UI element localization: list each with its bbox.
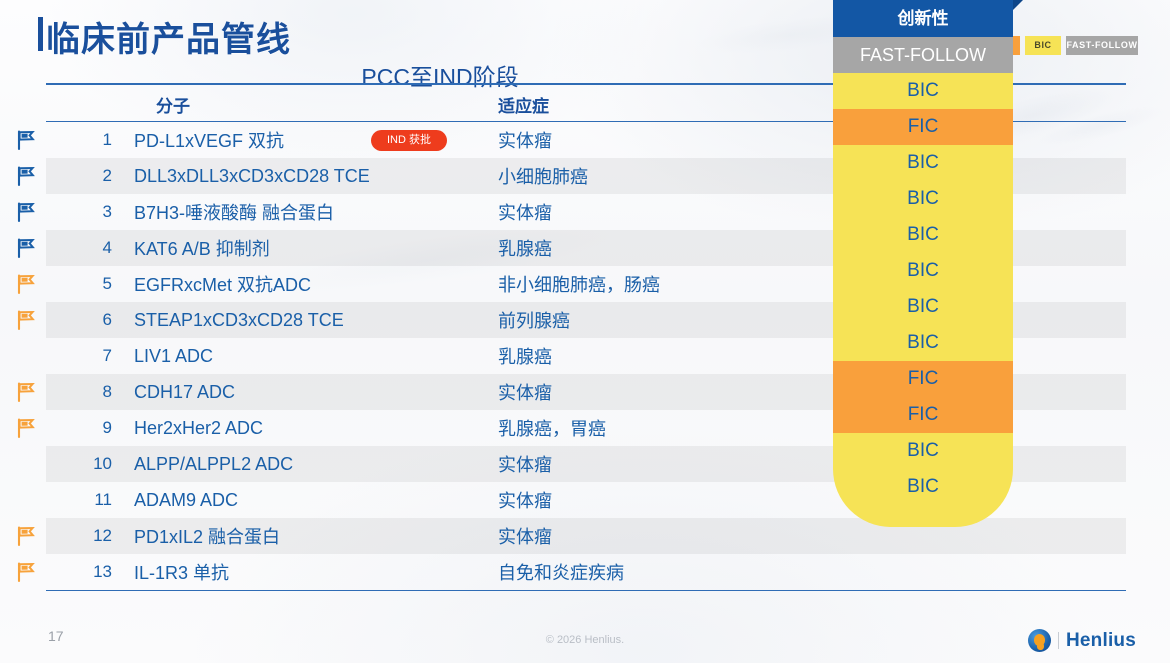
molecule-name: KAT6 A/B 抑制剂	[134, 235, 270, 261]
row-number: 1	[86, 130, 112, 150]
column-header-indication: 适应症	[498, 92, 549, 117]
legend-chip-bic: BIC	[1025, 36, 1061, 55]
indication-text: 实体瘤	[498, 523, 552, 549]
ind-approval-badge: IND 获批	[371, 130, 447, 151]
molecule-name: DLL3xDLL3xCD3xCD28 TCE	[134, 166, 370, 187]
table-bottom-rule	[46, 590, 1126, 591]
indication-text: 自免和炎症疾病	[498, 559, 624, 585]
molecule-name: ADAM9 ADC	[134, 490, 238, 511]
ind-year-flag-icon	[15, 309, 37, 331]
indication-text: 小细胞肺癌	[498, 163, 588, 189]
ind-year-flag-icon	[15, 273, 37, 295]
innovation-cell: BIC	[833, 217, 1013, 253]
innovation-cell: FIC	[833, 109, 1013, 145]
innovation-column: 创新性 FAST-FOLLOWBICFICBICBICBICBICBICBICF…	[833, 0, 1013, 527]
ind-year-flag-icon	[15, 129, 37, 151]
indication-text: 乳腺癌	[498, 343, 552, 369]
row-number: 8	[86, 382, 112, 402]
row-number: 12	[86, 526, 112, 546]
indication-text: 实体瘤	[498, 379, 552, 405]
page-title: 临床前产品管线	[46, 12, 291, 61]
innovation-cell: FIC	[833, 397, 1013, 433]
molecule-name: CDH17 ADC	[134, 382, 235, 403]
row-number: 7	[86, 346, 112, 366]
innovation-cell: BIC	[833, 253, 1013, 289]
molecule-name: B7H3-唾液酸酶 融合蛋白	[134, 199, 334, 225]
ind-year-flag-icon	[15, 165, 37, 187]
ind-year-flag-icon	[15, 237, 37, 259]
innovation-cells: FAST-FOLLOWBICFICBICBICBICBICBICBICFICFI…	[833, 37, 1013, 527]
molecule-name: PD1xIL2 融合蛋白	[134, 523, 280, 549]
molecule-name: STEAP1xCD3xCD28 TCE	[134, 310, 344, 331]
henlius-logo: Henlius	[1028, 629, 1136, 652]
logo-divider	[1058, 632, 1059, 649]
innovation-cell: BIC	[833, 73, 1013, 109]
row-number: 10	[86, 454, 112, 474]
legend-chip-ff: FAST-FOLLOW	[1066, 36, 1138, 55]
molecule-name: PD-L1xVEGF 双抗	[134, 127, 284, 153]
row-number: 3	[86, 202, 112, 222]
molecule-name: EGFRxcMet 双抗ADC	[134, 271, 311, 297]
innovation-cell: BIC	[833, 145, 1013, 181]
row-number: 4	[86, 238, 112, 258]
ind-year-flag-icon	[15, 201, 37, 223]
indication-text: 前列腺癌	[498, 307, 570, 333]
innovation-cell: BIC	[833, 289, 1013, 325]
indication-text: 实体瘤	[498, 451, 552, 477]
innovation-cell: BIC	[833, 433, 1013, 469]
row-number: 6	[86, 310, 112, 330]
molecule-name: LIV1 ADC	[134, 346, 213, 367]
indication-text: 乳腺癌	[498, 235, 552, 261]
innovation-cell: BIC	[833, 181, 1013, 217]
row-number: 2	[86, 166, 112, 186]
row-number: 5	[86, 274, 112, 294]
innovation-cell: FIC	[833, 361, 1013, 397]
row-number: 13	[86, 562, 112, 582]
indication-text: 实体瘤	[498, 487, 552, 513]
slide-canvas: 临床前产品管线 PCC至IND阶段 2025 IND2026 IND FICBI…	[0, 0, 1170, 663]
indication-text: 乳腺癌，胃癌	[498, 415, 606, 441]
indication-text: 实体瘤	[498, 127, 552, 153]
innovation-cell: BIC	[833, 469, 1013, 505]
henlius-logo-icon	[1028, 629, 1051, 652]
molecule-name: ALPP/ALPPL2 ADC	[134, 454, 293, 475]
table-row: 13IL-1R3 单抗自免和炎症疾病	[46, 554, 1126, 590]
ind-year-flag-icon	[15, 381, 37, 403]
copyright-text: © 2026 Henlius.	[0, 634, 1170, 646]
column-header-molecule: 分子	[156, 92, 190, 117]
indication-text: 非小细胞肺癌，肠癌	[498, 271, 660, 297]
innovation-cell: BIC	[833, 325, 1013, 361]
logo-wordmark: Henlius	[1066, 630, 1136, 652]
row-number: 9	[86, 418, 112, 438]
indication-text: 实体瘤	[498, 199, 552, 225]
molecule-name: IL-1R3 单抗	[134, 559, 229, 585]
ind-year-flag-icon	[15, 561, 37, 583]
ind-year-flag-icon	[15, 525, 37, 547]
molecule-name: Her2xHer2 ADC	[134, 418, 263, 439]
innovation-column-tail	[833, 505, 1013, 527]
column-header-innovation: 创新性	[833, 0, 1013, 37]
innovation-cell: FAST-FOLLOW	[833, 37, 1013, 73]
row-number: 11	[86, 490, 112, 510]
ind-year-flag-icon	[15, 417, 37, 439]
